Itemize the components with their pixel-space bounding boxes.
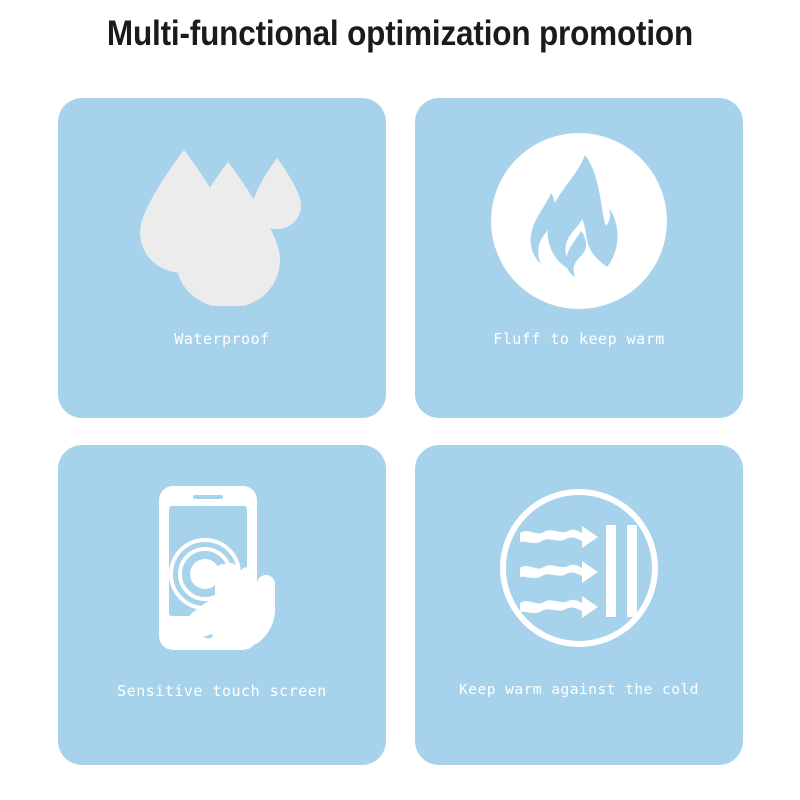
promotion-poster: Multi-functional optimization promotion … bbox=[0, 0, 800, 800]
flame-circle-icon bbox=[415, 126, 743, 316]
feature-card-grid: Waterproof bbox=[58, 98, 747, 765]
feature-card-keep-warm-against-cold[interactable]: Keep warm against the cold bbox=[415, 445, 743, 765]
feature-card-sensitive-touch-screen[interactable]: Sensitive touch screen bbox=[58, 445, 386, 765]
feature-card-label: Sensitive touch screen bbox=[58, 682, 386, 700]
touch-screen-hand-icon bbox=[58, 473, 386, 663]
page-title: Multi-functional optimization promotion bbox=[40, 12, 760, 56]
feature-card-waterproof[interactable]: Waterproof bbox=[58, 98, 386, 418]
windproof-barrier-icon bbox=[415, 473, 743, 663]
feature-card-fluff-keep-warm[interactable]: Fluff to keep warm bbox=[415, 98, 743, 418]
feature-card-label: Keep warm against the cold bbox=[415, 682, 743, 698]
water-drops-icon bbox=[58, 126, 386, 316]
feature-card-label: Fluff to keep warm bbox=[415, 330, 743, 348]
feature-card-label: Waterproof bbox=[58, 330, 386, 348]
